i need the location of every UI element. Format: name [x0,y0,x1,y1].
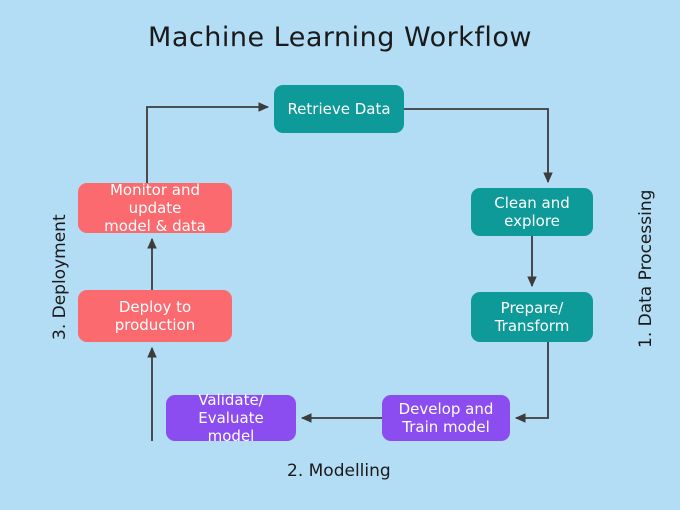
node-label: Develop and Train model [399,400,494,437]
phase-modelling: 2. Modelling [287,461,391,481]
arrow-layer [0,0,680,510]
node-deploy-production[interactable]: Deploy to production [78,290,232,342]
node-validate-evaluate[interactable]: Validate/ Evaluate model [166,395,296,441]
arrow-prepare-to-develop [516,342,548,418]
node-label: Monitor and update model & data [86,181,224,236]
arrow-monitor-to-retrieve [147,107,268,183]
node-label: Validate/ Evaluate model [174,391,288,446]
node-retrieve-data[interactable]: Retrieve Data [274,85,404,133]
workflow-diagram-canvas: Machine Learning Workflow Retrieve DataC… [0,0,680,510]
phase-deployment: 3. Deployment [50,214,70,340]
arrow-retrieve-to-clean [404,109,548,182]
page-title: Machine Learning Workflow [0,22,680,53]
node-monitor-update[interactable]: Monitor and update model & data [78,183,232,233]
node-label: Deploy to production [115,298,196,335]
node-label: Clean and explore [494,194,570,231]
phase-data-processing: 1. Data Processing [636,190,656,348]
node-label: Prepare/ Transform [495,299,570,336]
node-prepare-transform[interactable]: Prepare/ Transform [471,292,593,342]
node-label: Retrieve Data [287,100,390,118]
node-develop-train[interactable]: Develop and Train model [382,395,510,441]
node-clean-and-explore[interactable]: Clean and explore [471,188,593,236]
